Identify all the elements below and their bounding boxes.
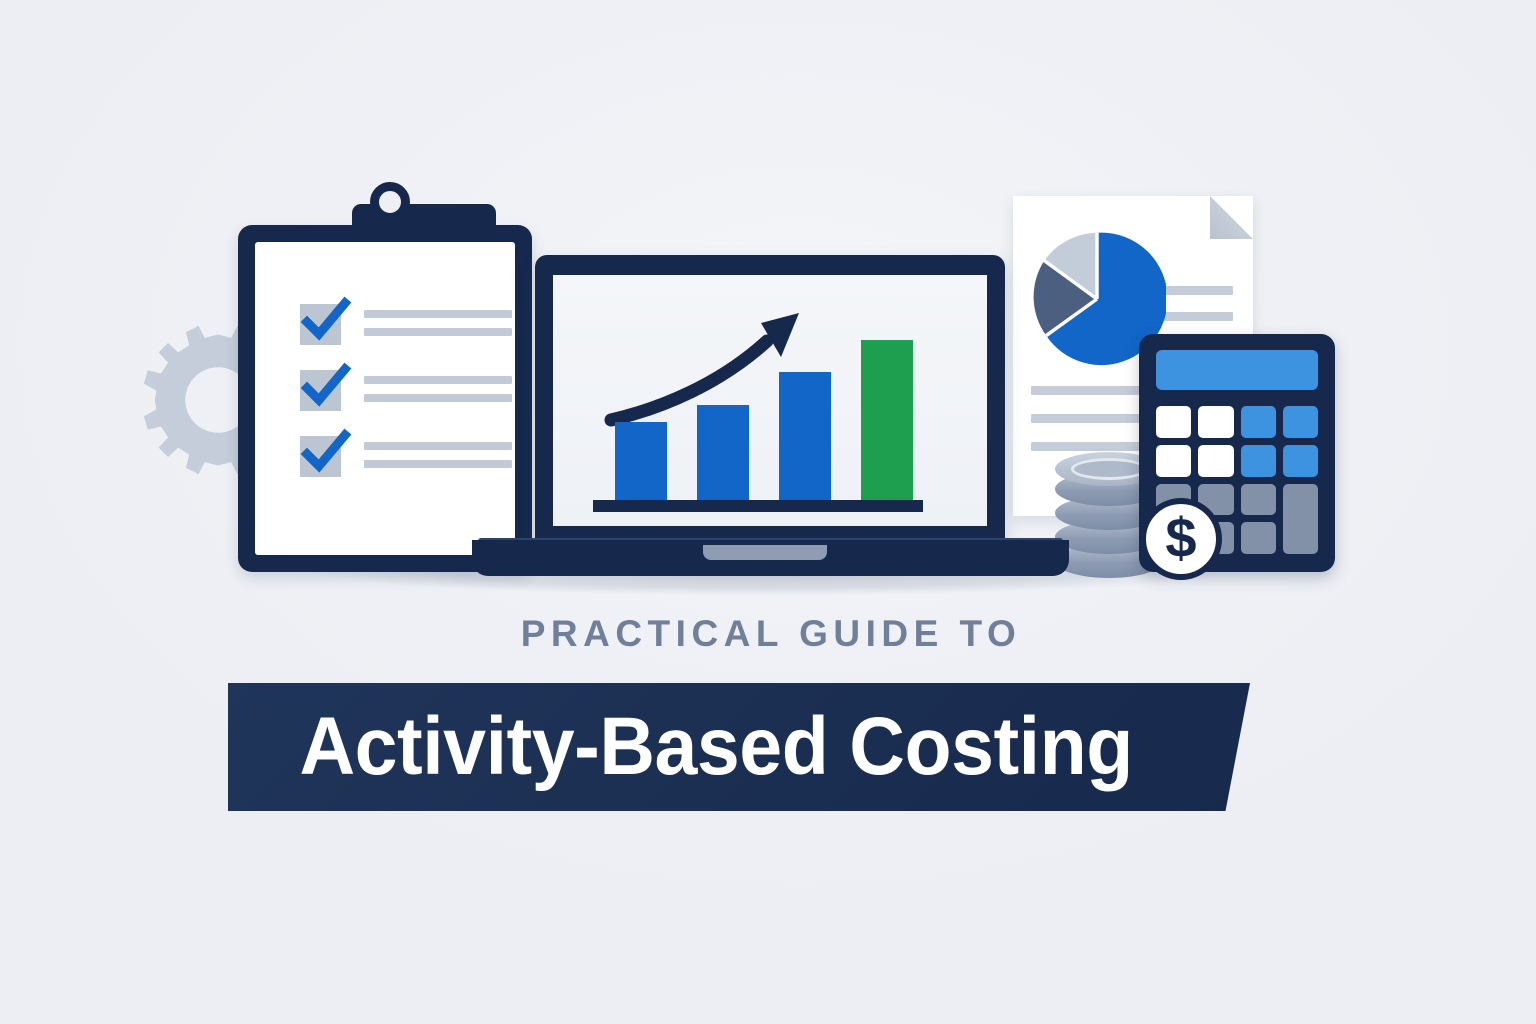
calculator-key[interactable]	[1283, 445, 1318, 477]
bar-3	[779, 372, 831, 500]
title-banner: Activity-Based Costing	[228, 683, 1250, 811]
checklist-item-lines	[364, 376, 512, 412]
calculator-key[interactable]	[1198, 445, 1233, 477]
checklist-item-lines	[364, 442, 512, 478]
text-line	[364, 460, 512, 468]
chart-baseline	[593, 500, 923, 512]
calculator-key[interactable]	[1198, 406, 1233, 438]
laptop	[535, 255, 1005, 545]
text-line	[364, 442, 512, 450]
checkmark-icon	[297, 294, 353, 350]
subtitle: PRACTICAL GUIDE TO	[0, 615, 1536, 652]
calculator-display	[1156, 350, 1318, 390]
checkmark-icon	[297, 360, 353, 416]
calculator-key[interactable]	[1241, 522, 1276, 554]
bar-1	[615, 422, 667, 500]
checklist-clipboard	[238, 225, 532, 572]
laptop-trackpad	[703, 545, 827, 560]
text-line	[364, 328, 512, 336]
hero-illustration: $	[0, 0, 1536, 620]
text-line	[1161, 286, 1233, 295]
bar-2	[697, 405, 749, 500]
checklist-item[interactable]	[300, 304, 515, 352]
calculator-key[interactable]	[1156, 445, 1191, 477]
page-title: Activity-Based Costing	[228, 706, 1133, 788]
checklist-item[interactable]	[300, 436, 515, 484]
dollar-coin-icon: $	[1140, 498, 1222, 580]
text-line	[364, 310, 512, 318]
checklist-item-lines	[364, 310, 512, 346]
calculator-key[interactable]	[1241, 445, 1276, 477]
title-block: PRACTICAL GUIDE TO Activity-Based Costin…	[0, 615, 1536, 652]
checkmark-icon	[297, 426, 353, 482]
bar-chart	[553, 275, 987, 526]
coin-rim	[1071, 458, 1147, 480]
poster-canvas: $ PRACTICAL GUIDE TO Activity	[0, 0, 1536, 1024]
bar-4	[861, 340, 913, 500]
calculator-key-equals[interactable]	[1283, 484, 1318, 555]
checklist-item[interactable]	[300, 370, 515, 418]
text-line	[364, 394, 512, 402]
calculator-key[interactable]	[1283, 406, 1318, 438]
calculator-key[interactable]	[1241, 484, 1276, 516]
clipboard-clip-ring	[370, 182, 410, 222]
dollar-sign: $	[1165, 510, 1196, 566]
calculator-key[interactable]	[1156, 406, 1191, 438]
calculator-key[interactable]	[1241, 406, 1276, 438]
text-line	[1161, 312, 1233, 321]
text-line	[364, 376, 512, 384]
clipboard-page	[255, 242, 515, 555]
